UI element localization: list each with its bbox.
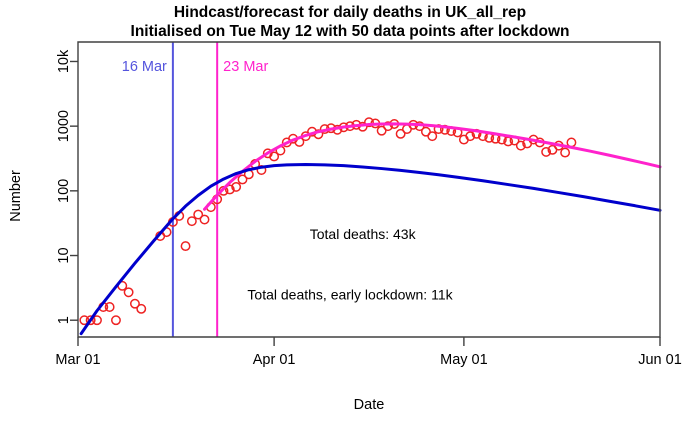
x-tick-label: May 01 [440, 352, 488, 368]
total-deaths-early-lockdown: Total deaths, early lockdown: 11k [247, 286, 453, 302]
chart-background [0, 0, 700, 433]
chart-svg: Hindcast/forecast for daily deaths in UK… [0, 0, 700, 433]
lockdown-early-line-label: 16 Mar [122, 59, 167, 75]
lockdown-actual-line-label: 23 Mar [223, 59, 268, 75]
y-tick-label: 10k [56, 49, 72, 73]
x-tick-label: Jun 01 [638, 352, 682, 368]
x-tick-label: Mar 01 [55, 352, 100, 368]
x-axis-label: Date [354, 397, 385, 413]
y-tick-label: 100 [56, 179, 72, 203]
total-deaths: Total deaths: 43k [310, 226, 417, 242]
chart-subtitle: Initialised on Tue May 12 with 50 data p… [131, 23, 570, 40]
chart-title: Hindcast/forecast for daily deaths in UK… [174, 4, 526, 21]
y-axis-label: Number [8, 170, 24, 222]
x-tick-label: Apr 01 [253, 352, 296, 368]
y-tick-label: 1000 [56, 110, 72, 142]
chart-page: Hindcast/forecast for daily deaths in UK… [0, 0, 700, 433]
y-tick-label: 1 [56, 316, 72, 324]
y-tick-label: 10 [56, 247, 72, 263]
